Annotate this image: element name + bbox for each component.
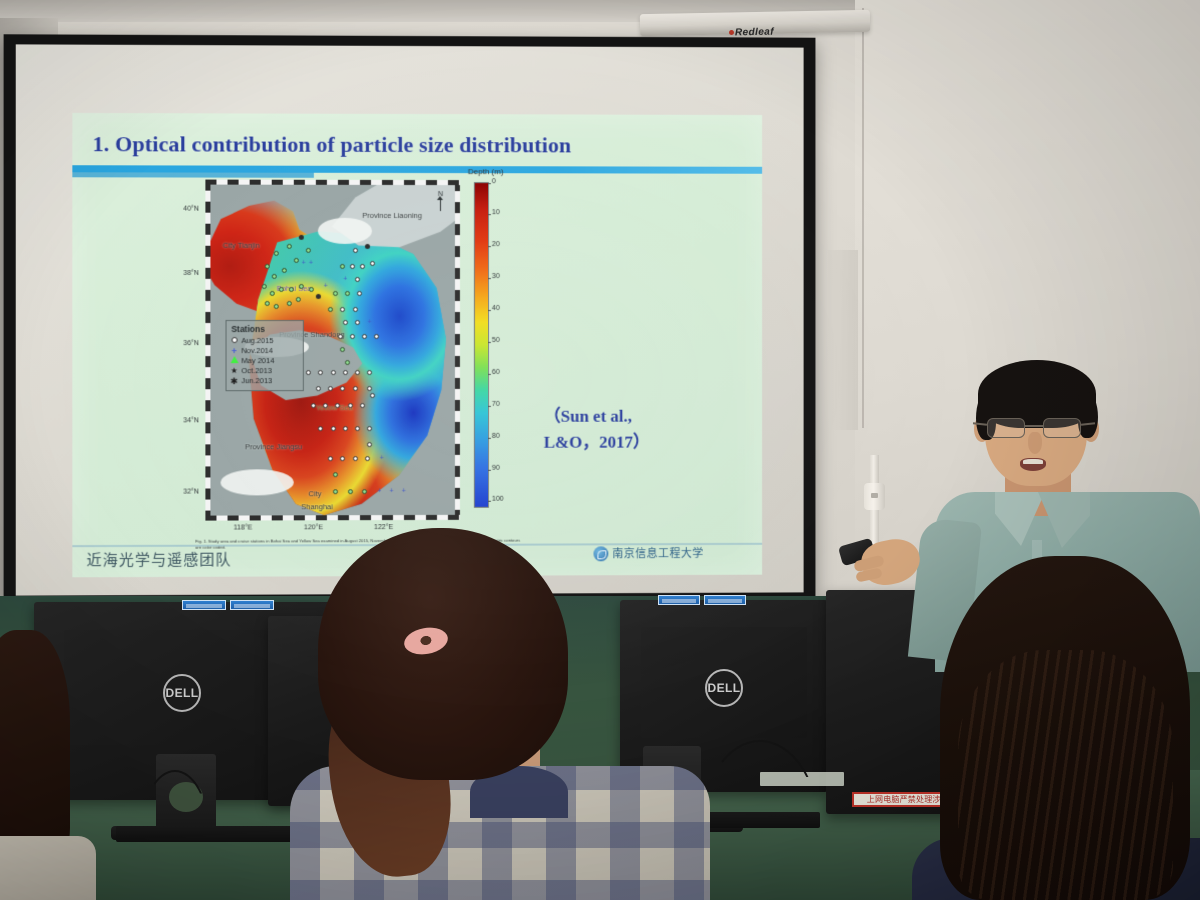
label-city: City: [308, 489, 321, 498]
presenter-mouth: [1020, 458, 1046, 471]
legend-item-nov2014: + Nov.2014: [230, 346, 298, 356]
colorbar-tick-50: 50: [492, 337, 500, 344]
triangle-marker-icon: [230, 356, 238, 366]
colorbar-tick-10: 10: [492, 209, 500, 216]
university-name: 南京信息工程大学: [612, 545, 703, 561]
colorbar-tick-60: 60: [492, 369, 500, 376]
colorbar-tick-20: 20: [492, 241, 500, 248]
colorbar-tick-70: 70: [492, 401, 500, 408]
university-logo: 南京信息工程大学: [593, 545, 703, 561]
colorbar-tick-90: 90: [492, 465, 500, 472]
legend-label-nov2014: Nov.2014: [241, 346, 273, 356]
wall-switch[interactable]: [864, 483, 885, 510]
label-shanghai: Shanghai: [301, 502, 333, 511]
wall-seam-line: [862, 8, 864, 428]
circle-marker-icon: [230, 336, 238, 346]
plus-marker-icon: +: [230, 346, 238, 356]
label-city-tianjin: City Tianjin: [223, 241, 260, 250]
eyeglasses-icon: [985, 418, 1085, 438]
colorbar-tick-100: 100: [492, 496, 504, 503]
monitor-3-asset-sticker-b: [704, 595, 746, 605]
slide-footer-team: 近海光学与遥感团队: [86, 549, 231, 571]
eyeglass-bridge: [1025, 425, 1043, 427]
x-tick-120E: 120°E: [304, 524, 323, 531]
citation-line-1: （Sun et al.,: [544, 404, 733, 430]
colorbar-tick-30: 30: [492, 273, 500, 280]
y-tick-34N: 34°N: [183, 417, 199, 424]
legend-title: Stations: [230, 324, 298, 334]
y-tick-38N: 38°N: [183, 270, 199, 277]
legend-label-aug2015: Aug.2015: [241, 336, 273, 346]
x-tick-118E: 118°E: [234, 524, 253, 531]
star-marker-icon: ★: [230, 366, 238, 376]
asterisk-marker-icon: ✱: [230, 376, 238, 386]
y-tick-36N: 36°N: [183, 340, 199, 347]
map-canvas: N Province Liaoning City Tianjin Bohai S…: [210, 185, 455, 516]
monitor-1-asset-sticker-b: [230, 600, 274, 610]
colorbar-title: Depth (m): [468, 167, 503, 176]
screen-surface: 1. Optical contribution of particle size…: [16, 44, 804, 595]
map-figure: Depth (m) 0 10 20 30 40 50 60 70 80 90 1…: [205, 180, 517, 533]
projection-screen: 1. Optical contribution of particle size…: [4, 34, 816, 605]
classroom-photo-scene: Redleaf 1. Optical contribution of parti…: [0, 0, 1200, 900]
dell-logo-2: DELL: [705, 669, 743, 707]
depth-colorbar: [474, 182, 489, 508]
label-province-jiangsu: Province Jiangsu: [245, 443, 302, 452]
north-arrow-icon: N: [438, 191, 443, 211]
legend-label-oct2013: Oct.2013: [241, 366, 272, 376]
label-province-liaoning: Province Liaoning: [362, 211, 422, 220]
legend-item-aug2015: Aug.2015: [230, 336, 298, 346]
university-emblem-icon: [593, 546, 608, 561]
colorbar-tick-40: 40: [492, 305, 500, 312]
student-right-hair-strands: [958, 650, 1173, 900]
coastline-highlight-3: [220, 469, 294, 496]
legend-item-jun2013: ✱ Jun.2013: [230, 376, 298, 386]
eyeglass-lens-right: [1043, 418, 1081, 438]
dell-logo: DELL: [163, 674, 201, 712]
brand-dot-icon: [729, 30, 734, 35]
y-tick-32N: 32°N: [183, 489, 199, 496]
monitor-1-asset-sticker-a: [182, 600, 226, 610]
legend-item-may2014: May 2014: [230, 356, 298, 366]
eyeglass-lens-left: [987, 418, 1025, 438]
student-far-left-body: [0, 836, 96, 900]
colorbar-tick-80: 80: [492, 433, 500, 440]
map-panel: N Province Liaoning City Tianjin Bohai S…: [205, 180, 460, 521]
map-legend: Stations Aug.2015 + Nov.2014: [225, 320, 303, 391]
title-underline-accent: [72, 172, 314, 178]
slide-title: 1. Optical contribution of particle size…: [93, 131, 572, 158]
colorbar-tick-0: 0: [492, 178, 496, 185]
legend-label-jun2013: Jun.2013: [241, 376, 272, 386]
presentation-slide: 1. Optical contribution of particle size…: [72, 113, 762, 577]
y-tick-40N: 40°N: [183, 206, 199, 213]
legend-label-may2014: May 2014: [241, 356, 274, 366]
wall-panel: [828, 250, 858, 430]
x-tick-122E: 122°E: [374, 524, 393, 531]
slide-citation: （Sun et al., L&O，2017）: [544, 404, 733, 456]
north-arrow-stem: [440, 199, 441, 211]
citation-line-2: L&O，2017）: [544, 429, 733, 455]
student-left-hair: [318, 528, 568, 780]
legend-item-oct2013: ★ Oct.2013: [230, 366, 298, 376]
student-far-left-hair: [0, 630, 70, 860]
monitor-3-asset-sticker-a: [658, 595, 700, 605]
